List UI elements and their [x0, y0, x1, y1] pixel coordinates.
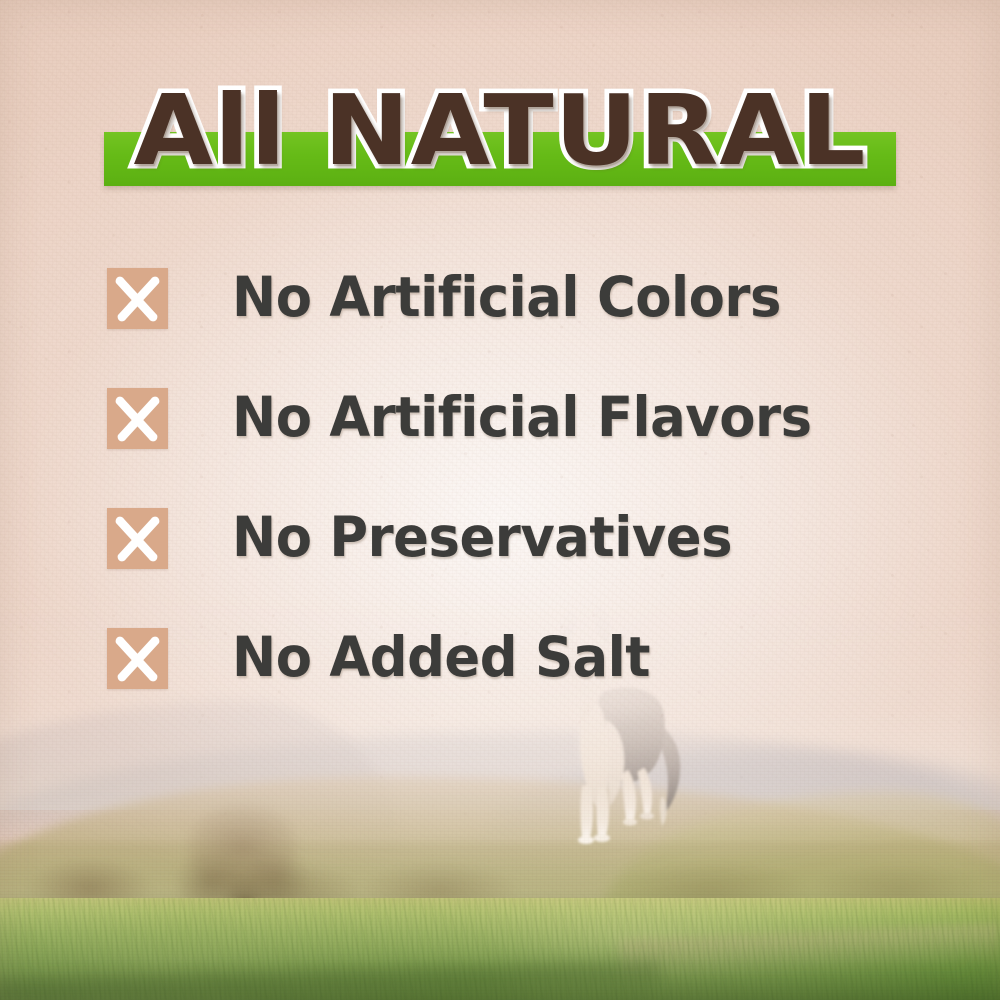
x-mark-icon [107, 388, 168, 449]
feature-checklist: No Artificial Colors No Artificial Flavo… [107, 262, 927, 742]
x-mark-icon [107, 628, 168, 689]
headline-title: All NATURAL [0, 72, 1000, 190]
list-item: No Artificial Colors [107, 262, 927, 382]
list-item-label: No Artificial Colors [232, 258, 781, 336]
list-item-label: No Preservatives [232, 498, 732, 576]
list-item-label: No Artificial Flavors [232, 378, 812, 456]
foreground-grass-shade [0, 890, 1000, 1000]
list-item: No Added Salt [107, 622, 927, 742]
x-mark-icon [107, 508, 168, 569]
list-item-label: No Added Salt [232, 618, 650, 696]
x-mark-icon [107, 268, 168, 329]
all-natural-feature-graphic: All NATURAL No Artificial Colors No Arti… [0, 0, 1000, 1000]
headline: All NATURAL [0, 72, 1000, 194]
list-item: No Artificial Flavors [107, 382, 927, 502]
list-item: No Preservatives [107, 502, 927, 622]
